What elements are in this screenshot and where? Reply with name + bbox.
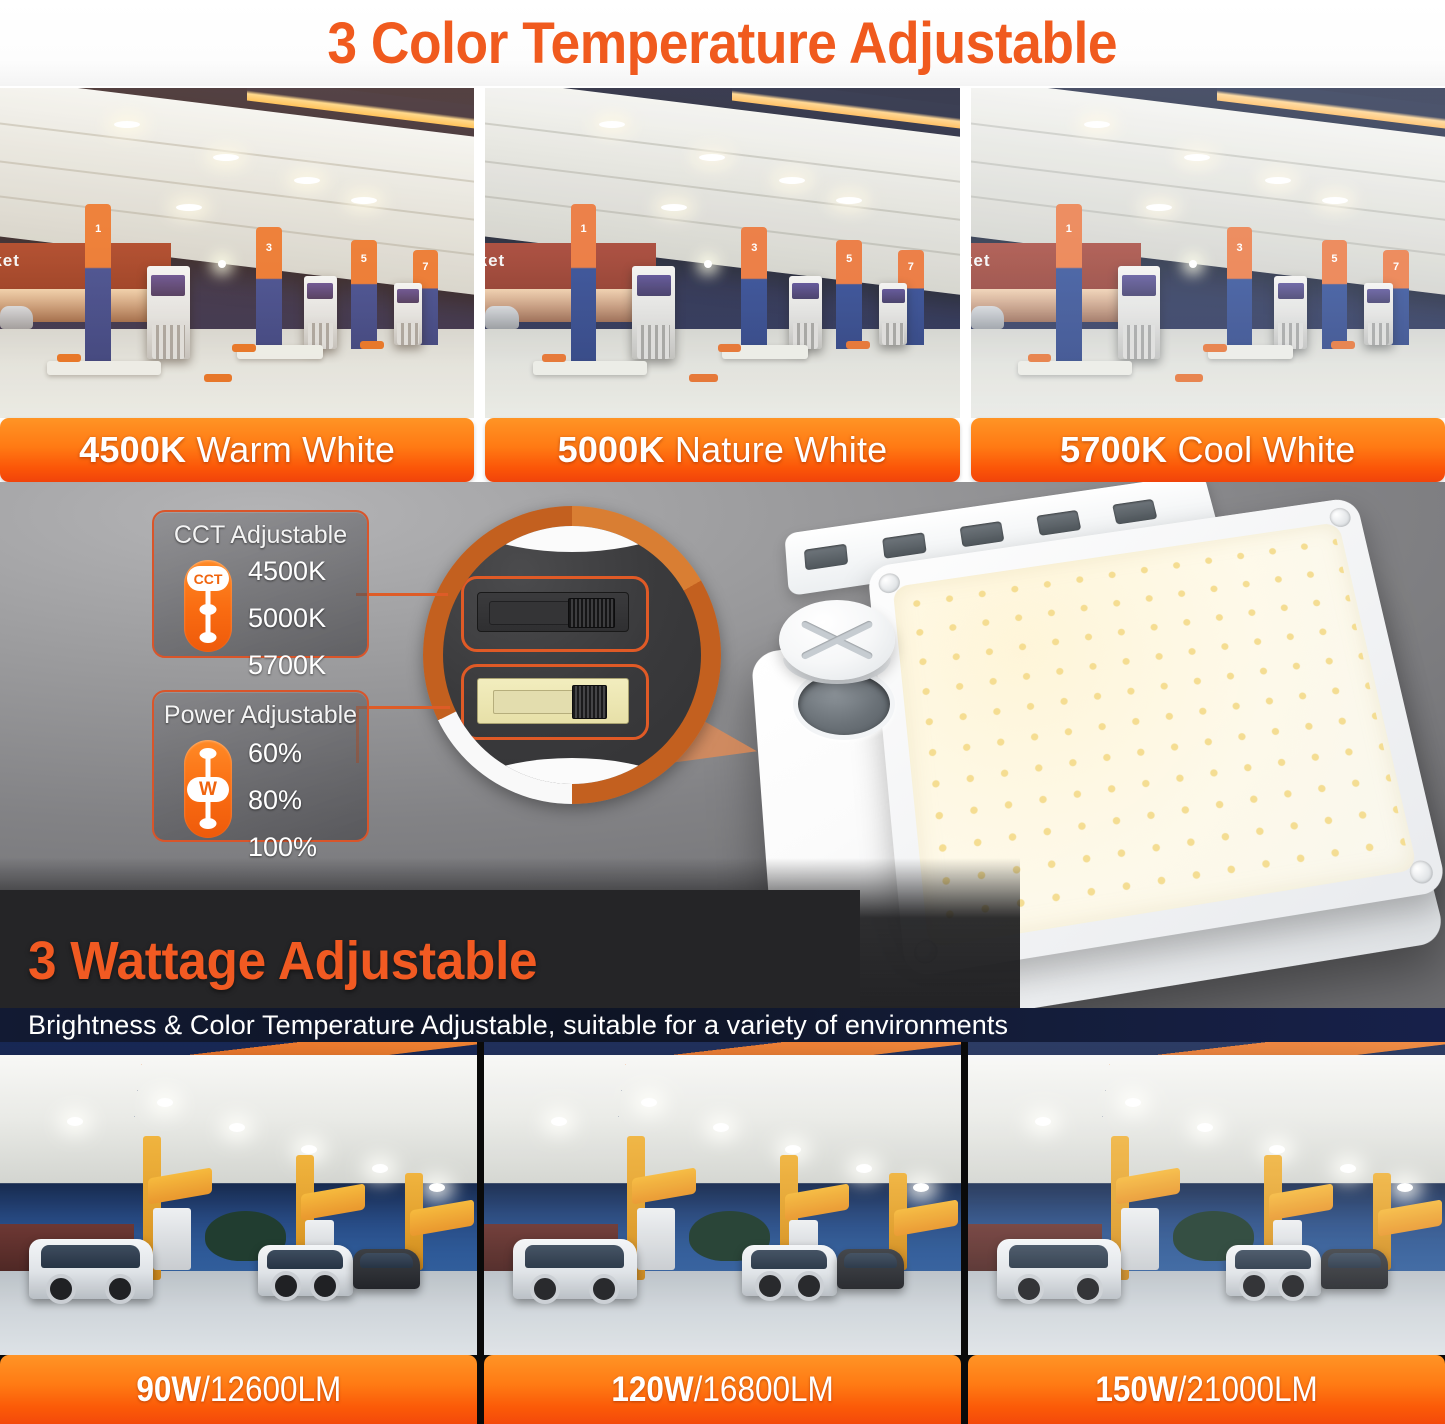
subtitle-band: Brightness & Color Temperature Adjustabl… [0, 1008, 1445, 1042]
power-callout-title: Power Adjustable [154, 701, 367, 730]
dark-car [353, 1249, 420, 1290]
white-suv [29, 1239, 153, 1298]
wattage-label-90w: 90W/12600LM [0, 1355, 477, 1424]
power-badge: W [187, 777, 229, 802]
cct-name: Warm White [196, 429, 395, 470]
tech-detail-section: CCT Adjustable CCT 4500K 5000K 5700K Pow… [0, 482, 1445, 1008]
wattage-label-row: 90W/12600LM 120W/16800LM 150W/21000LM [0, 1355, 1445, 1424]
cct-option: 5700K [248, 642, 326, 689]
ceiling-lamp [176, 204, 202, 211]
cct-option: 4500K [248, 548, 326, 595]
lumen-value: /12600LM [201, 1370, 341, 1409]
power-slider-icon: W [184, 740, 232, 838]
page-title: 3 Color Temperature Adjustable [328, 10, 1118, 77]
pump-pillar: 5 [351, 240, 377, 349]
power-dip-switch [477, 678, 629, 724]
wattage-value: 150W [1095, 1370, 1177, 1409]
cct-badge: CCT [187, 566, 229, 591]
wattage-photo-row [0, 1042, 1445, 1355]
power-option: 60% [248, 730, 317, 777]
lumen-value: /16800LM [694, 1370, 834, 1409]
connector-power [356, 706, 450, 709]
connector-cct [356, 593, 448, 596]
power-option: 80% [248, 777, 317, 824]
cct-value: 4500K [79, 429, 186, 470]
wattage-label-150w: 150W/21000LM [968, 1355, 1445, 1424]
cct-label-row: 4500K Warm White 5000K Nature White 5700… [0, 418, 1445, 482]
subtitle-text: Brightness & Color Temperature Adjustabl… [0, 1010, 1008, 1041]
cct-name: Nature White [675, 429, 887, 470]
wattage-photo-150w [968, 1042, 1445, 1355]
fuel-pump [394, 283, 422, 346]
store-sign: ket [0, 251, 20, 271]
cct-label-5000k: 5000K Nature White [485, 418, 959, 482]
cct-photo-warm-white: ket 1 3 5 7 [0, 88, 474, 418]
cct-label-4500k: 4500K Warm White [0, 418, 474, 482]
wattage-value: 120W [611, 1370, 693, 1409]
header-banner: 3 Color Temperature Adjustable [0, 0, 1445, 86]
fuel-pump [304, 276, 337, 349]
cct-label-5700k: 5700K Cool White [971, 418, 1445, 482]
lumen-value: /21000LM [1178, 1370, 1318, 1409]
cct-option-list: 4500K 5000K 5700K [248, 548, 326, 689]
power-adjustable-callout: Power Adjustable W 60% 80% 100% [152, 690, 369, 842]
cct-option: 5000K [248, 595, 326, 642]
power-option: 100% [248, 824, 317, 871]
cct-photo-row: ket 1 3 5 7 [0, 88, 1445, 418]
cct-value: 5700K [1060, 429, 1167, 470]
screw-cap-icon [779, 600, 895, 680]
cct-photo-cool-white: ket 1 3 5 7 [971, 88, 1445, 418]
cct-adjustable-callout: CCT Adjustable CCT 4500K 5000K 5700K [152, 510, 369, 658]
cct-photo-nature-white: ket 1 3 5 7 [485, 88, 959, 418]
magnifier-view [443, 526, 701, 784]
distant-streetlamp [218, 260, 226, 268]
wattage-label-120w: 120W/16800LM [484, 1355, 961, 1424]
wattage-heading: 3 Wattage Adjustable [28, 930, 537, 992]
wattage-value: 90W [136, 1370, 201, 1409]
parked-car [0, 306, 33, 329]
cct-dip-switch [477, 592, 629, 632]
wattage-photo-120w [484, 1042, 961, 1355]
white-suv [258, 1245, 353, 1295]
ceiling-lamp [351, 197, 377, 204]
pump-pillar: 1 [85, 204, 111, 362]
power-option-list: 60% 80% 100% [248, 730, 317, 871]
pump-pillar: 3 [256, 227, 282, 356]
fuel-pump [147, 266, 190, 358]
cct-value: 5000K [558, 429, 665, 470]
cct-name: Cool White [1177, 429, 1355, 470]
cct-callout-title: CCT Adjustable [154, 521, 367, 550]
cct-slider-icon: CCT [184, 560, 232, 652]
product-infographic: 3 Color Temperature Adjustable ket 1 3 [0, 0, 1445, 1424]
ceiling-lamp [114, 121, 140, 128]
wattage-photo-90w [0, 1042, 477, 1355]
